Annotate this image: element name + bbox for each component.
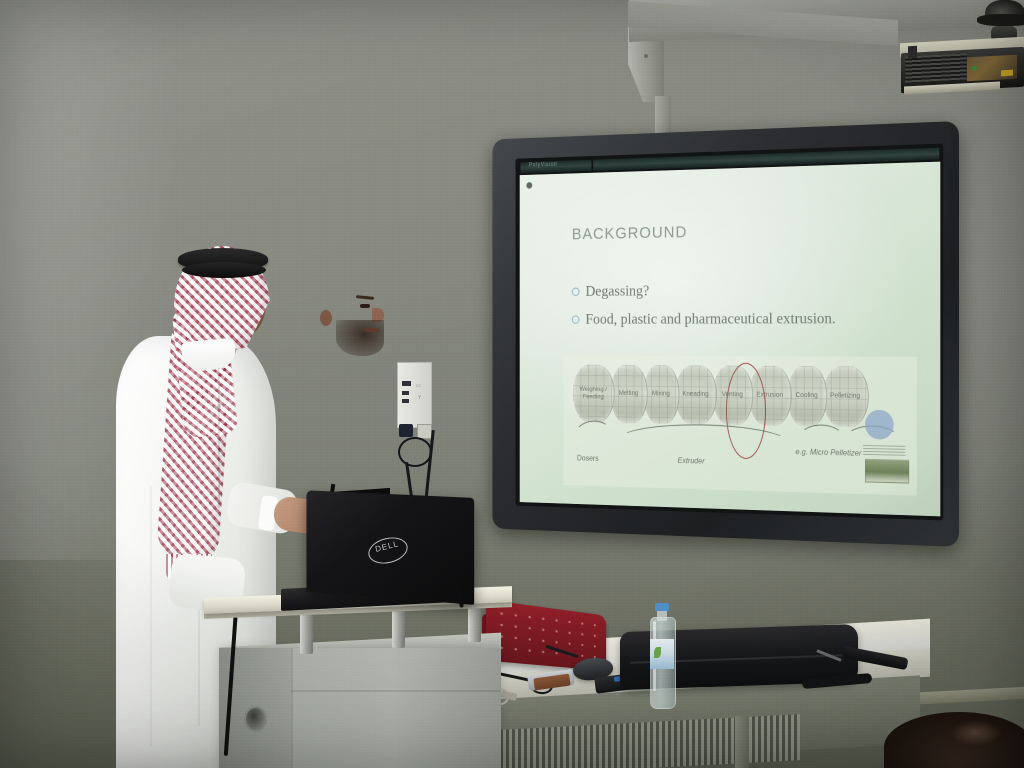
photo-vignette [0,0,1024,768]
presentation-photo-scene: ▭ Y PolyVision BACKGROUND Degassing? [0,0,1024,768]
